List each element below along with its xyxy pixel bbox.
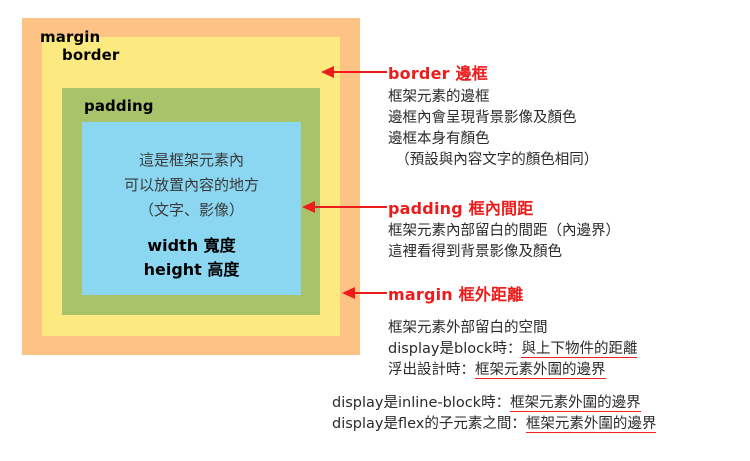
border-arrow-left-icon bbox=[321, 66, 387, 78]
annotation-panel: border 邊框 框架元素的邊框 邊框內會呈現背景影像及顏色 邊框本身有顏色 … bbox=[386, 0, 750, 461]
padding-label: padding bbox=[84, 97, 154, 115]
padding-annotation-body: 框架元素內部留白的間距（內邊界） 這裡看得到背景影像及顏色 bbox=[388, 221, 620, 263]
margin-annotation-title: margin 框外距離 bbox=[388, 281, 523, 305]
arrow-shaft bbox=[352, 292, 387, 294]
border-annotation-title: border 邊框 bbox=[388, 60, 488, 84]
padding-arrow-left-icon bbox=[302, 201, 387, 213]
margin-annotation-body-secondary: display是inline-block時：框架元素外圍的邊界 display是… bbox=[332, 393, 656, 435]
padding-annotation-line-1: 框架元素內部留白的間距（內邊界） bbox=[388, 221, 620, 242]
margin-annotation-line-4: display是inline-block時：框架元素外圍的邊界 bbox=[332, 393, 656, 414]
padding-annotation-title: padding 框內間距 bbox=[388, 195, 533, 219]
border-annotation-line-3: 邊框本身有顏色 bbox=[388, 129, 598, 150]
margin-label: margin bbox=[40, 28, 100, 46]
margin-line-3-prefix: 浮出設計時： bbox=[388, 362, 475, 378]
arrow-shaft bbox=[331, 71, 387, 73]
content-height-label: height 高度 bbox=[82, 258, 301, 282]
margin-annotation-line-1: 框架元素外部留白的空間 bbox=[388, 318, 637, 339]
margin-arrow-left-icon bbox=[342, 287, 387, 299]
margin-line-3-underlined: 框架元素外圍的邊界 bbox=[475, 362, 606, 379]
content-line-3: （文字、影像） bbox=[82, 198, 301, 223]
margin-line-4-prefix: display是inline-block時： bbox=[332, 395, 510, 411]
border-label: border bbox=[62, 46, 119, 64]
box-model-diagram: margin border padding 這是框架元素內 可以放置內容的地方 … bbox=[22, 18, 360, 355]
margin-annotation-line-2: display是block時：與上下物件的距離 bbox=[388, 339, 637, 360]
margin-line-2-prefix: display是block時： bbox=[388, 341, 521, 357]
border-annotation-body: 框架元素的邊框 邊框內會呈現背景影像及顏色 邊框本身有顏色 （預設與內容文字的顏… bbox=[388, 87, 598, 171]
content-line-1: 這是框架元素內 bbox=[82, 148, 301, 173]
border-annotation-line-4: （預設與內容文字的顏色相同） bbox=[388, 150, 598, 171]
border-annotation-line-1: 框架元素的邊框 bbox=[388, 87, 598, 108]
content-line-2: 可以放置內容的地方 bbox=[82, 173, 301, 198]
border-annotation-line-2: 邊框內會呈現背景影像及顏色 bbox=[388, 108, 598, 129]
margin-line-5-prefix: display是flex的子元素之間： bbox=[332, 416, 526, 432]
margin-line-5-underlined: 框架元素外圍的邊界 bbox=[526, 416, 657, 433]
padding-annotation-line-2: 這裡看得到背景影像及顏色 bbox=[388, 242, 620, 263]
margin-annotation-line-3: 浮出設計時：框架元素外圍的邊界 bbox=[388, 360, 637, 381]
content-box-text: 這是框架元素內 可以放置內容的地方 （文字、影像） width 寬度 heigh… bbox=[82, 122, 301, 282]
margin-line-4-underlined: 框架元素外圍的邊界 bbox=[510, 395, 641, 412]
margin-line-2-underlined: 與上下物件的距離 bbox=[521, 341, 637, 358]
arrow-shaft bbox=[312, 206, 387, 208]
margin-annotation-line-5: display是flex的子元素之間：框架元素外圍的邊界 bbox=[332, 414, 656, 435]
content-dimensions: width 寬度 height 高度 bbox=[82, 234, 301, 282]
content-width-label: width 寬度 bbox=[82, 234, 301, 258]
margin-annotation-body: 框架元素外部留白的空間 display是block時：與上下物件的距離 浮出設計… bbox=[388, 318, 637, 381]
